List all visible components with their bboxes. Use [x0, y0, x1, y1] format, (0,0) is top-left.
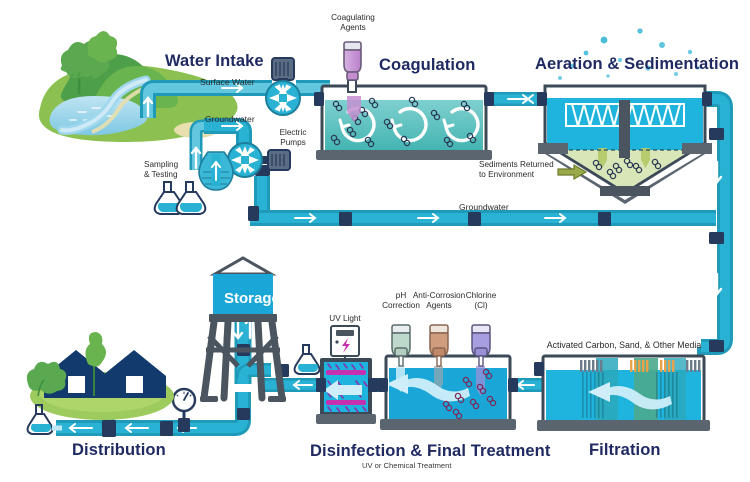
label-filter-media: Activated Carbon, Sand, & Other Media: [547, 341, 702, 351]
coag-inlet-port: [314, 92, 324, 106]
intake-strainer: [199, 152, 233, 190]
aeration-outlet-port: [702, 92, 712, 106]
coagulation-tank: [314, 80, 494, 160]
filtration-outlet-port: [534, 362, 544, 376]
valve-dist-tee: [102, 420, 116, 437]
joint-main-1: [339, 212, 352, 226]
label-chlorine: Chlorine (Cl): [466, 291, 497, 310]
chemical-base: [380, 419, 516, 430]
label-groundwater-top: Groundwater: [205, 115, 255, 125]
label-electric-pumps: Electric Pumps: [280, 128, 307, 147]
sampling-flasks: [155, 182, 206, 214]
bottle-body: [344, 50, 361, 72]
joint-right-1: [709, 128, 724, 140]
chem-outlet-port: [508, 378, 518, 392]
label-sampling-testing: Sampling & Testing: [144, 160, 178, 179]
uv-outlet-port: [368, 378, 378, 392]
flask-2: [177, 182, 206, 214]
electric-pump-surface: [266, 58, 300, 115]
uv-lamp-bottom: [326, 400, 366, 405]
joint-right-2: [709, 232, 724, 244]
joint-gw-elbow: [248, 206, 259, 221]
house-2: [102, 350, 166, 398]
uv-control-box: [331, 326, 359, 362]
aeration-inlet-port: [537, 92, 547, 106]
uv-base: [316, 414, 376, 424]
page-title-aeration: Aeration & Sedimentation: [535, 55, 739, 74]
uv-disinfection-chamber: [316, 358, 378, 424]
label-groundwater-main: Groundwater: [459, 203, 509, 213]
flask-uv: [295, 345, 320, 374]
aeration-sedimentation-tank: [537, 86, 712, 204]
page-title-disinfection: Disinfection & Final Treatment: [310, 442, 550, 461]
storage-tank-label: Storage: [224, 290, 280, 307]
coagulating-agents-bottle: [344, 42, 361, 80]
water-treatment-diagram: Water Intake Coagulation Aeration & Sedi…: [0, 0, 750, 482]
uv-lamp-top: [326, 370, 366, 375]
page-title-coagulation: Coagulation: [379, 56, 475, 75]
coagulation-base: [316, 150, 492, 160]
media-col-3: [664, 358, 686, 420]
page-title-filtration: Filtration: [589, 441, 661, 460]
pump-motor-1: [272, 58, 294, 80]
disinfection-sublabel: UV or Chemical Treatment: [362, 461, 451, 470]
distribution-group: [27, 332, 174, 420]
tower-roof: [215, 258, 271, 274]
tower-skirt: [209, 314, 277, 322]
page-title-distribution: Distribution: [72, 441, 166, 460]
valve-dist-1: [160, 421, 173, 436]
joint-main-3: [598, 212, 611, 226]
page-title-water-intake: Water Intake: [165, 52, 264, 71]
label-surface-water: Surface Water: [200, 78, 255, 88]
chem-inlet-port: [378, 378, 388, 392]
joint-storage-down: [237, 408, 250, 420]
joint-right-3: [709, 340, 724, 352]
coagulant-nozzle: [348, 80, 356, 92]
coag-outlet-port: [484, 92, 494, 106]
label-anti-corrosion-agents: Anti-Corrosion Agents: [413, 291, 465, 310]
filtration-base: [537, 420, 710, 431]
uv-inlet-port: [316, 378, 326, 392]
filtration-tank: [534, 356, 710, 431]
label-coagulating-agents: Coagulating Agents: [331, 13, 375, 32]
label-uv-light: UV Light: [329, 314, 360, 324]
bottle-neck: [347, 72, 358, 80]
aerator-shaft: [619, 100, 630, 158]
pump-motor-2: [268, 150, 290, 170]
joint-main-2: [468, 212, 481, 226]
chemical-treatment-tank: [378, 356, 518, 430]
